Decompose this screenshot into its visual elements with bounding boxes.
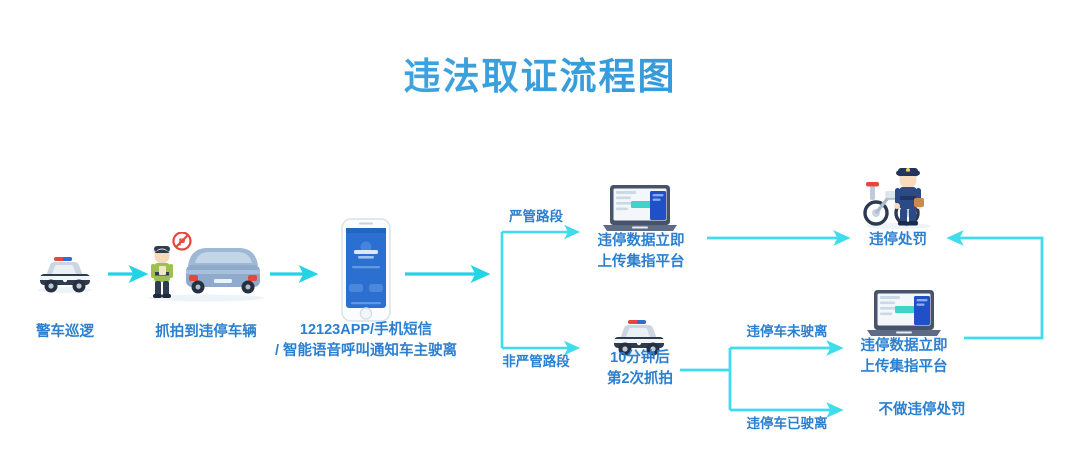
- edge-label-strict-road: 严管路段: [486, 207, 586, 227]
- node-label-patrol: 警车巡逻: [12, 322, 118, 343]
- node-label-recapture: 10分钟后 第2次抓拍: [578, 348, 702, 390]
- node-label-upload-bottom-line2: 上传集指平台: [833, 357, 975, 378]
- edge-label-already-left: 违停车已驶离: [726, 414, 848, 434]
- police-car-icon: [32, 252, 98, 294]
- node-label-no-penalty: 不做违停处罚: [851, 400, 993, 421]
- node-label-upload-top-line2: 上传集指平台: [570, 252, 712, 273]
- flowchart-canvas: 违法取证流程图: [0, 0, 1080, 476]
- node-label-notify-line2: / 智能语音呼叫通知车主驶离: [256, 341, 476, 362]
- node-label-upload-top-line1: 违停数据立即: [570, 231, 712, 252]
- laptop-icon: [601, 183, 679, 235]
- smartphone-icon: [335, 217, 397, 323]
- node-label-upload-top: 违停数据立即 上传集指平台: [570, 231, 712, 273]
- node-label-recapture-line1: 10分钟后: [578, 348, 702, 369]
- traffic-police-icon: [858, 160, 938, 230]
- node-label-upload-bottom: 违停数据立即 上传集指平台: [833, 336, 975, 378]
- node-label-notify-line1: 12123APP/手机短信: [256, 320, 476, 341]
- edge-uploadbottom-to-penalty: [952, 238, 1042, 338]
- node-label-penalty: 违停处罚: [840, 230, 956, 251]
- officer-and-car-icon: P: [140, 232, 272, 302]
- laptop-icon: [865, 288, 943, 340]
- no-parking-sign-icon: P: [174, 233, 191, 250]
- edge-label-not-left: 违停车未驶离: [726, 322, 848, 342]
- edge-label-non-strict-road: 非严管路段: [478, 352, 594, 372]
- parked-car-icon: [186, 248, 260, 294]
- node-label-upload-bottom-line1: 违停数据立即: [833, 336, 975, 357]
- police-officer-icon: [151, 246, 173, 298]
- node-label-notify: 12123APP/手机短信 / 智能语音呼叫通知车主驶离: [256, 320, 476, 362]
- node-label-recapture-line2: 第2次抓拍: [578, 369, 702, 390]
